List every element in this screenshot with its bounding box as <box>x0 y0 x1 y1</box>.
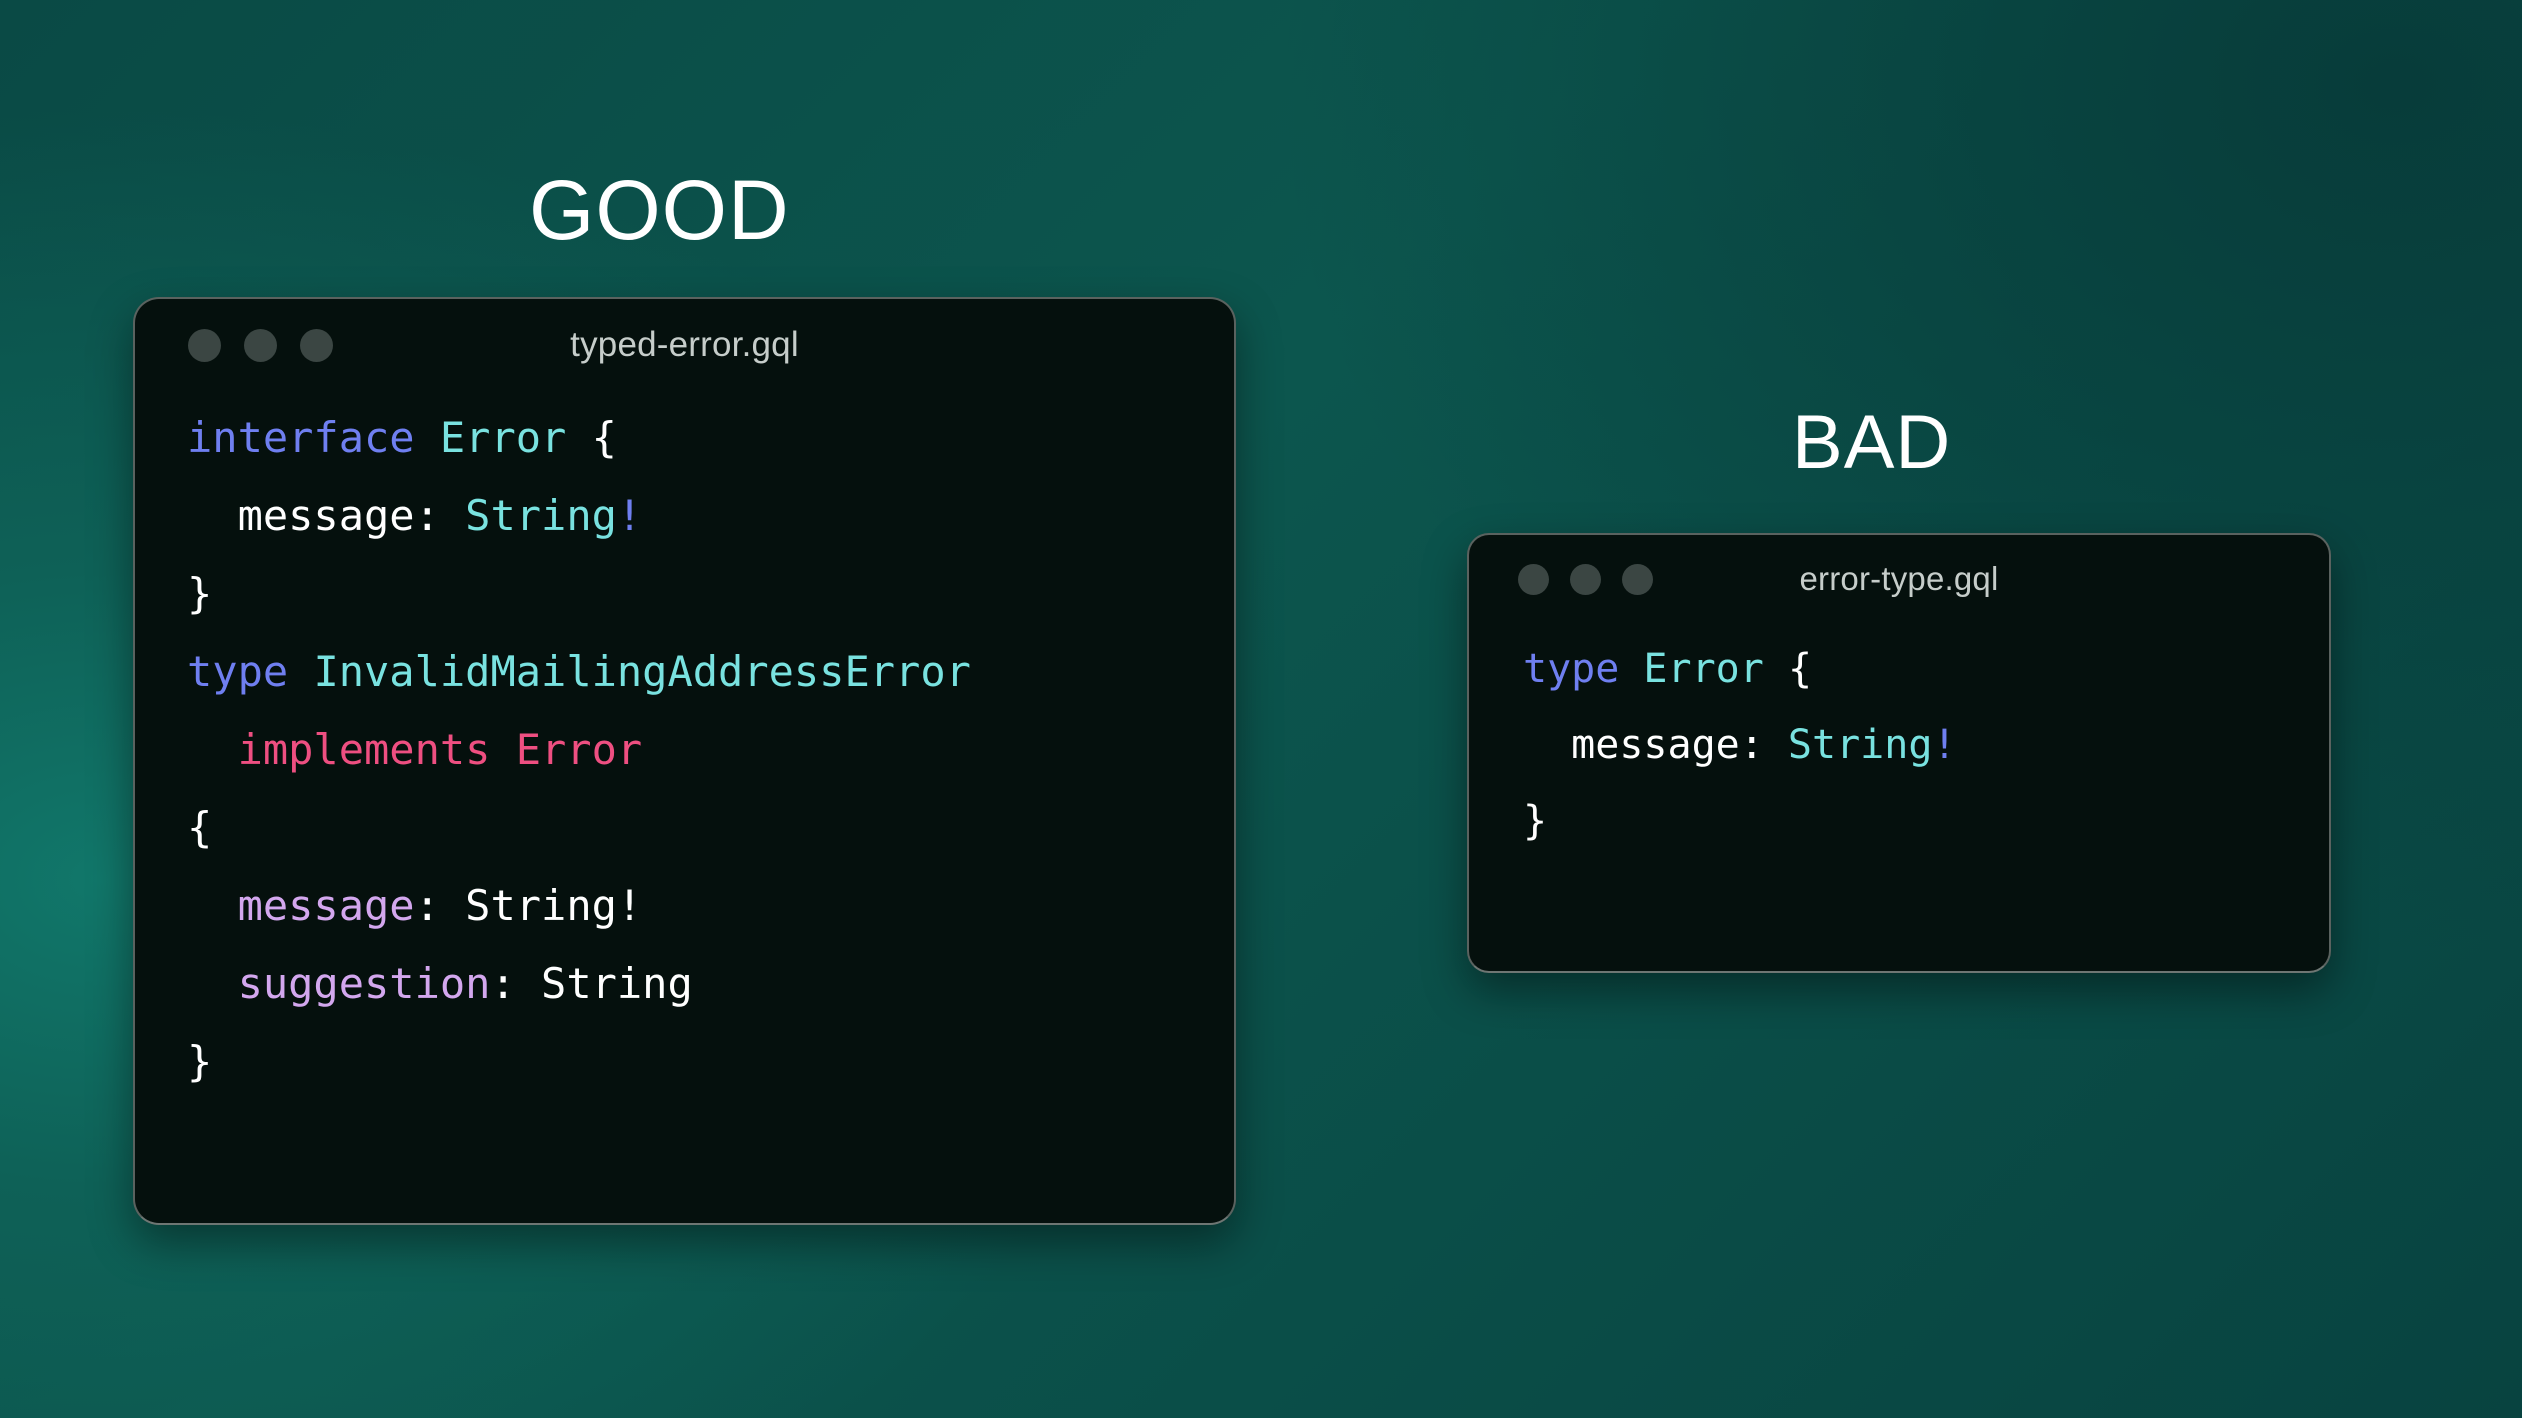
code-token-plain <box>288 647 313 696</box>
good-window-traffic-lights <box>188 329 333 362</box>
code-token-impl: implements Error <box>238 725 643 774</box>
code-line: } <box>187 1023 1234 1101</box>
code-token-plain <box>187 491 238 540</box>
code-token-type: InvalidMailingAddressError <box>313 647 970 696</box>
code-line: message: String! <box>187 477 1234 555</box>
code-line: message: String! <box>187 867 1234 945</box>
code-token-field: suggestion <box>238 959 491 1008</box>
code-token-plain <box>187 959 238 1008</box>
code-token-plain <box>187 881 238 930</box>
code-token-bang: ! <box>617 491 642 540</box>
code-token-plain <box>415 413 440 462</box>
close-dot-icon[interactable] <box>1518 564 1549 595</box>
code-line: } <box>1523 783 2329 859</box>
minimize-dot-icon[interactable] <box>1570 564 1601 595</box>
code-token-kw: type <box>1523 646 1619 692</box>
code-token-punc: } <box>187 569 212 618</box>
code-token-punc: : <box>415 491 466 540</box>
code-line: interface Error { <box>187 399 1234 477</box>
code-token-string: String <box>1788 722 1933 768</box>
code-token-type: Error <box>1643 646 1763 692</box>
code-line: type InvalidMailingAddressError <box>187 633 1234 711</box>
minimize-dot-icon[interactable] <box>244 329 277 362</box>
code-token-plain: String! <box>465 881 642 930</box>
good-heading: GOOD <box>529 168 790 252</box>
code-token-punc: : <box>490 959 541 1008</box>
code-token-plain <box>1619 646 1643 692</box>
good-code-window: typed-error.gql interface Error { messag… <box>133 297 1236 1225</box>
code-token-plain <box>1523 722 1571 768</box>
code-token-field: message <box>238 881 415 930</box>
good-code-body: interface Error { message: String!}type … <box>187 391 1234 1101</box>
maximize-dot-icon[interactable] <box>300 329 333 362</box>
bad-code-window: error-type.gql type Error { message: Str… <box>1467 533 2331 973</box>
code-line: implements Error <box>187 711 1234 789</box>
code-token-plain <box>566 413 591 462</box>
code-token-plain <box>187 725 238 774</box>
code-token-punc: } <box>187 1037 212 1086</box>
code-token-punc: { <box>592 413 617 462</box>
code-token-bang: ! <box>1932 722 1956 768</box>
code-token-string: String <box>465 491 617 540</box>
code-token-punc: : <box>415 881 466 930</box>
code-token-type: Error <box>440 413 566 462</box>
code-token-kw: type <box>187 647 288 696</box>
bad-window-traffic-lights <box>1518 564 1653 595</box>
bad-window-titlebar: error-type.gql <box>1469 535 2329 623</box>
code-token-punc: } <box>1523 798 1547 844</box>
bad-heading: BAD <box>1792 405 1951 481</box>
code-line: suggestion: String <box>187 945 1234 1023</box>
code-line: } <box>187 555 1234 633</box>
close-dot-icon[interactable] <box>188 329 221 362</box>
maximize-dot-icon[interactable] <box>1622 564 1653 595</box>
code-token-punc: { <box>187 803 212 852</box>
code-token-plain: message <box>238 491 415 540</box>
good-window-titlebar: typed-error.gql <box>135 299 1234 391</box>
code-token-punc: { <box>1788 646 1812 692</box>
code-token-kw: interface <box>187 413 415 462</box>
code-line: { <box>187 789 1234 867</box>
code-line: message: String! <box>1523 707 2329 783</box>
code-line: type Error { <box>1523 631 2329 707</box>
code-token-plain: String <box>541 959 693 1008</box>
slide-canvas: GOOD BAD typed-error.gql interface Error… <box>0 0 2522 1418</box>
code-token-plain: message <box>1571 722 1740 768</box>
code-token-plain <box>1764 646 1788 692</box>
bad-code-body: type Error { message: String!} <box>1523 623 2329 859</box>
code-token-punc: : <box>1740 722 1788 768</box>
